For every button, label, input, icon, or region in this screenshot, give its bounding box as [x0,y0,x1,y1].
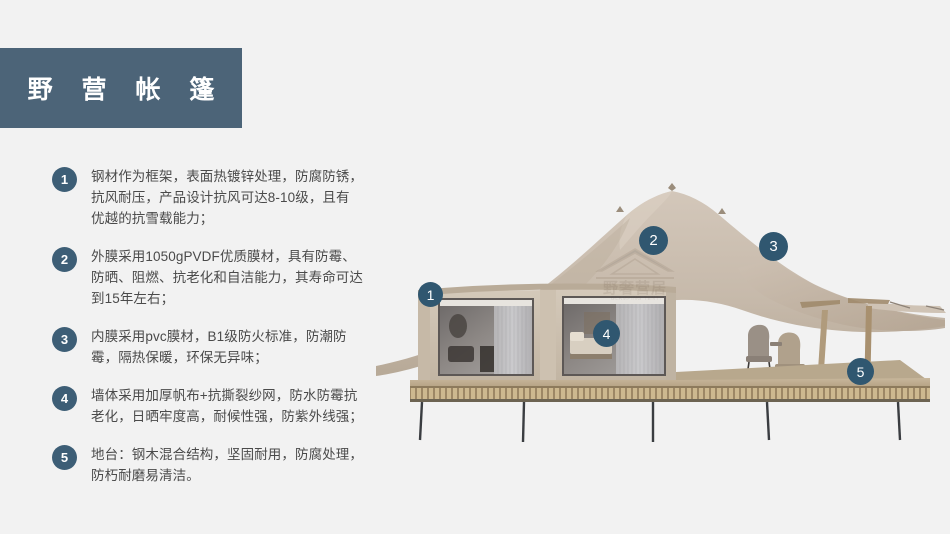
deck-facade [410,386,930,400]
feature-badge-2: 2 [52,247,77,272]
membrane-right-wing [738,260,945,331]
wall-edge-right [666,290,676,380]
interior-mirror [449,314,467,338]
wall-pillar-middle [540,290,556,380]
feature-item-4: 4 墙体采用加厚帆布+抗撕裂纱网，防水防霉抗老化，日晒牢度高，耐候性强，防紫外线… [52,385,372,427]
feature-item-1: 1 钢材作为框架，表面热镀锌处理，防腐防锈，抗风耐压，产品设计抗风可达8-10级… [52,166,372,229]
image-marker-5: 5 [847,358,874,385]
feature-badge-4: 4 [52,386,77,411]
deck-leg-4 [767,402,769,440]
image-marker-3: 3 [759,232,788,261]
feature-badge-1: 1 [52,167,77,192]
deck-leg-1 [420,402,422,440]
feature-item-2: 2 外膜采用1050gPVDF优质膜材，具有防霉、防晒、阻燃、抗老化和自洁能力，… [52,246,372,309]
feature-badge-3: 3 [52,327,77,352]
deck-leg-5 [898,402,900,440]
window-left [438,298,534,376]
deck-leg-2 [523,402,524,442]
feature-list: 1 钢材作为框架，表面热镀锌处理，防腐防锈，抗风耐压，产品设计抗风可达8-10级… [52,166,372,503]
image-marker-4: 4 [593,320,620,347]
deck-legs [420,402,900,442]
feature-text-4: 墙体采用加厚帆布+抗撕裂纱网，防水防霉抗老化，日晒牢度高，耐候性强，防紫外线强； [91,385,363,427]
interior-pillow [570,332,584,341]
tent-graphic [370,150,950,450]
image-marker-1: 1 [418,282,443,307]
feature-item-3: 3 内膜采用pvc膜材，B1级防火标准，防潮防霉，隔热保暖，环保无异味； [52,326,372,368]
image-marker-2: 2 [639,226,668,255]
lounge-chair-left [748,325,769,358]
feature-text-5: 地台：钢木混合结构，坚固耐用，防腐处理，防朽耐磨易清洁。 [91,444,363,486]
feature-text-1: 钢材作为框架，表面热镀锌处理，防腐防锈，抗风耐压，产品设计抗风可达8-10级，且… [91,166,363,229]
feature-badge-5: 5 [52,445,77,470]
window-right-valance [564,298,664,304]
feature-item-5: 5 地台：钢木混合结构，坚固耐用，防腐处理，防朽耐磨易清洁。 [52,444,372,486]
tent-illustration: 野奢营居 GLAMPING TENT 1 2 3 4 5 [370,150,950,450]
page-title: 野 营 帐 篷 [17,70,226,106]
interior-basin [448,346,474,362]
feature-text-2: 外膜采用1050gPVDF优质膜材，具有防霉、防晒、阻燃、抗老化和自洁能力，其寿… [91,246,363,309]
feature-text-3: 内膜采用pvc膜材，B1级防火标准，防潮防霉，隔热保暖，环保无异味； [91,326,363,368]
title-banner: 野 营 帐 篷 [0,48,242,128]
window-left-valance [440,300,532,306]
lounge-chair-right [778,332,800,366]
